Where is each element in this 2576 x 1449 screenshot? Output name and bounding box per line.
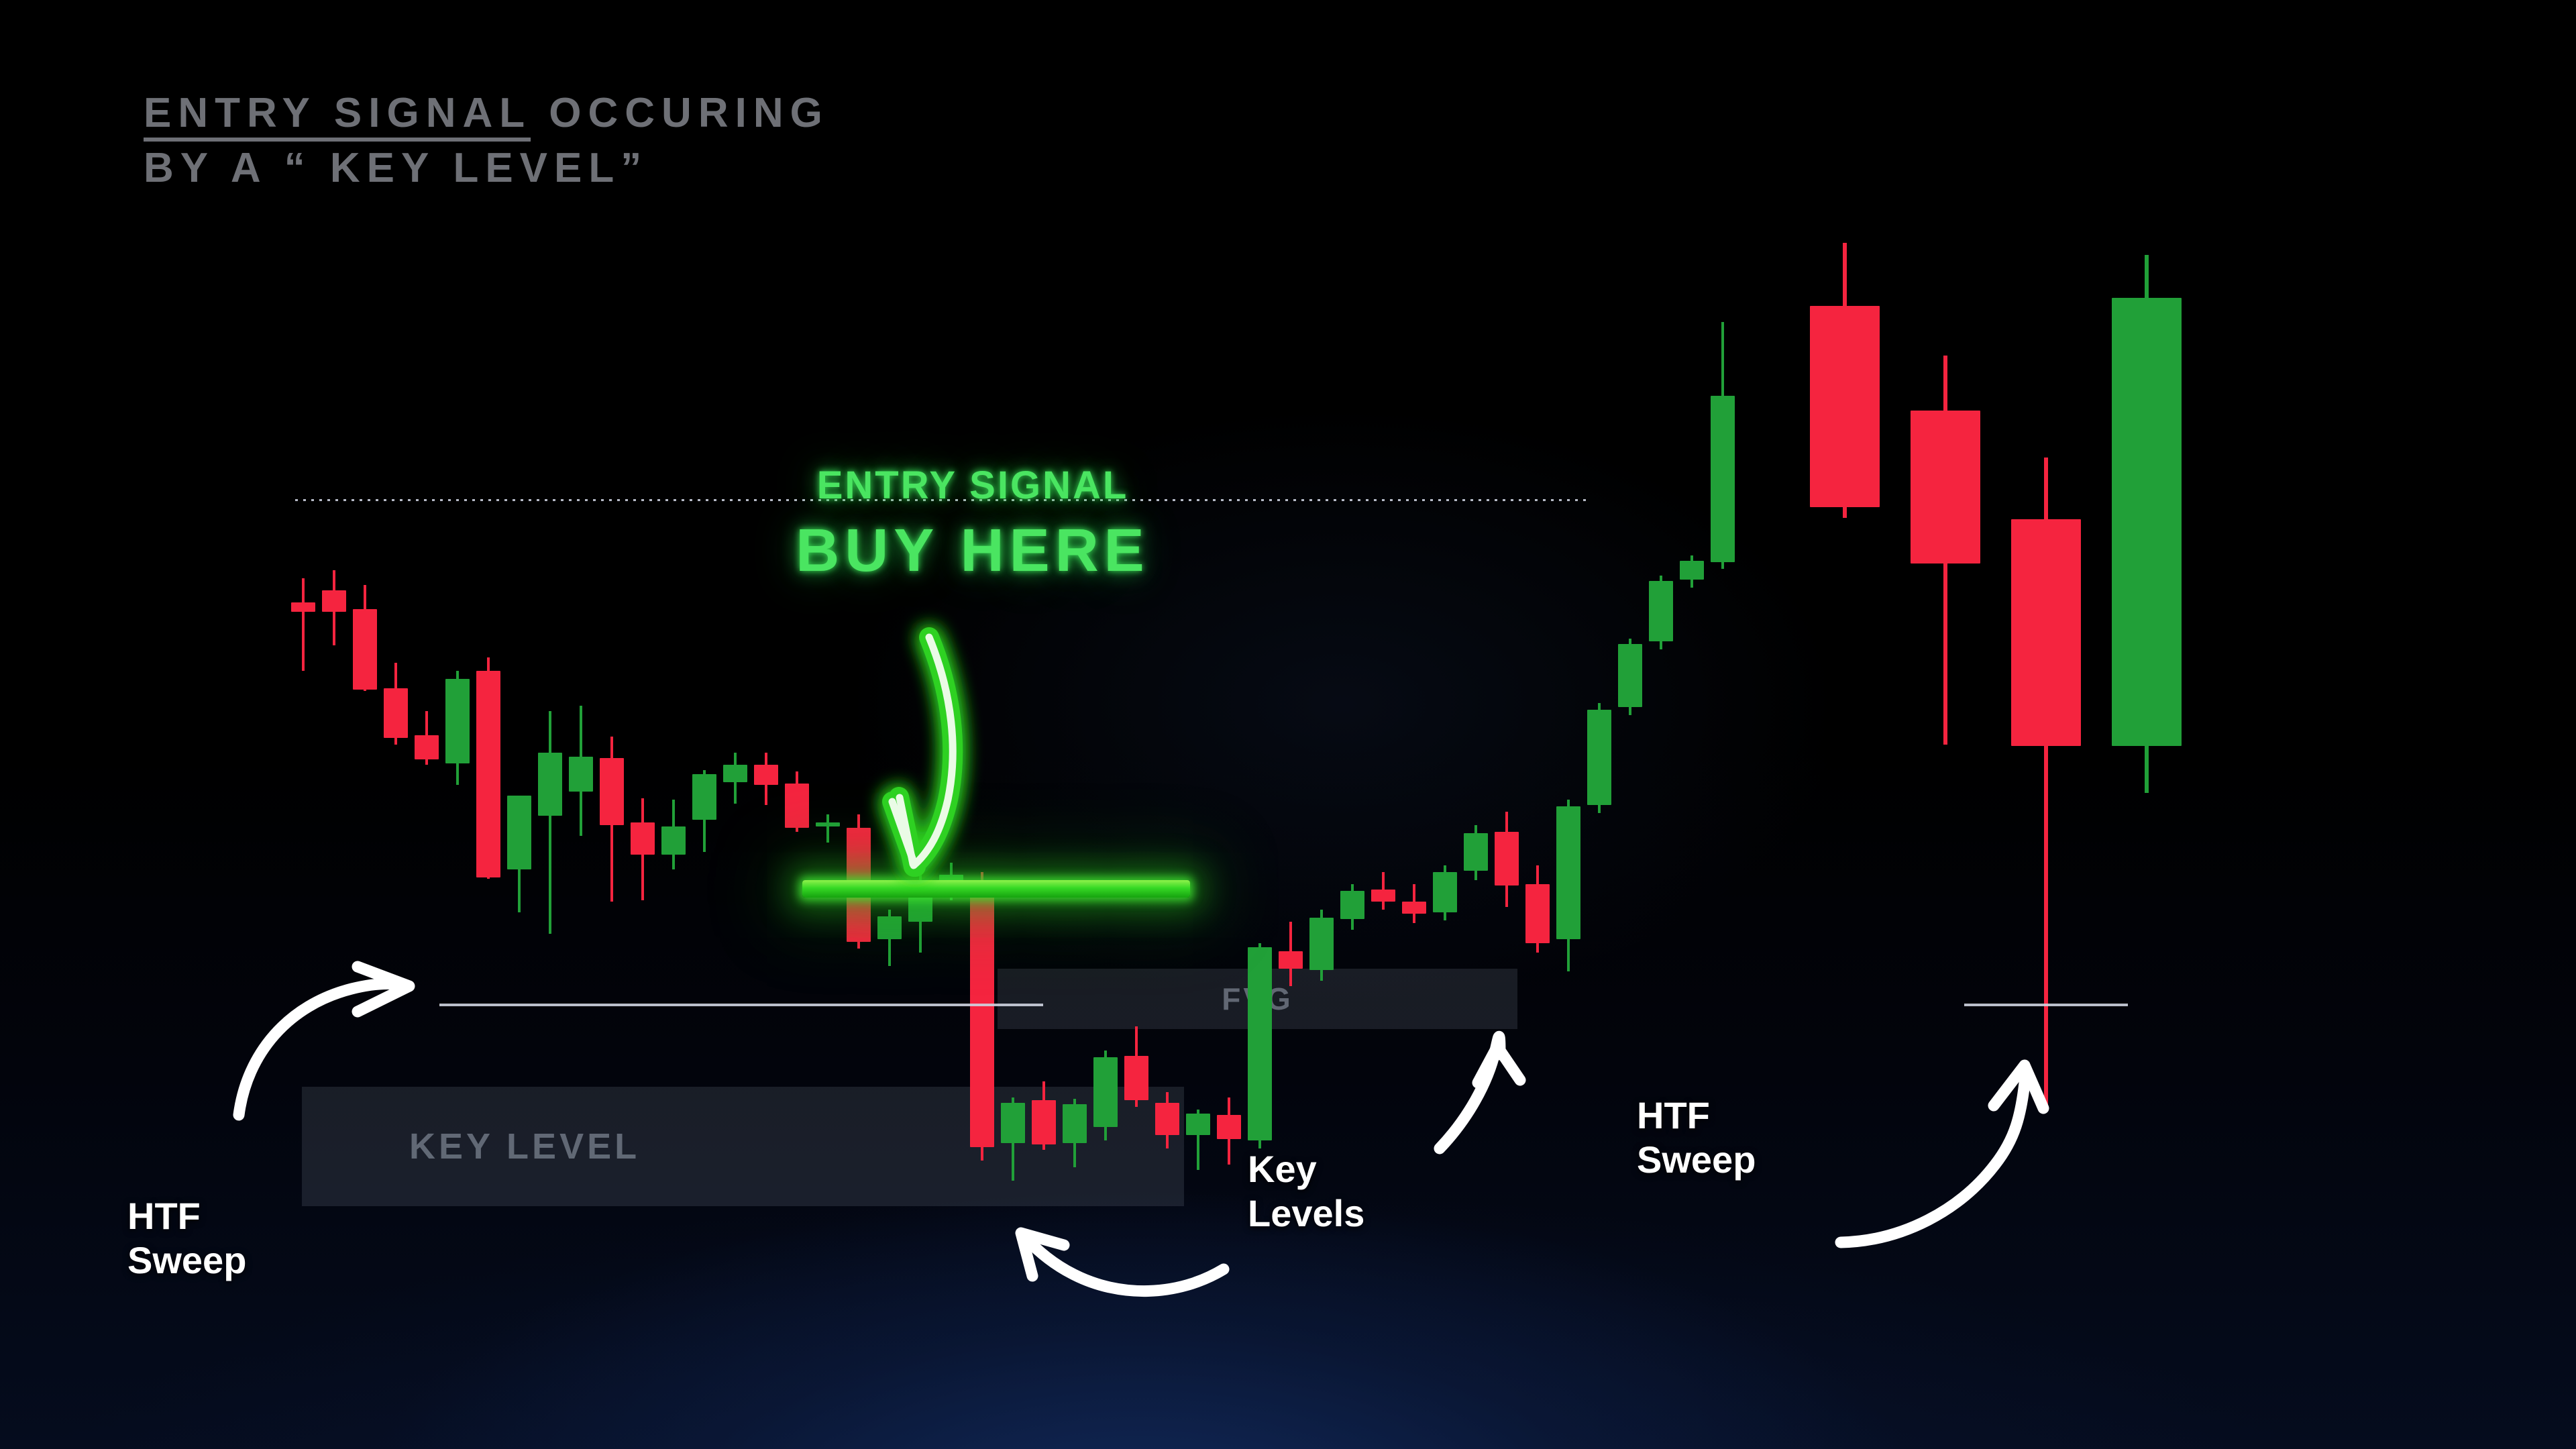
candle-body	[877, 916, 902, 939]
title-line-2: BY A “ KEY LEVEL”	[144, 141, 829, 196]
candlestick-bullish	[1340, 884, 1364, 930]
candlestick-bullish	[1093, 1051, 1118, 1140]
candle-body	[631, 822, 655, 855]
title-rest-part: OCCURING	[531, 90, 829, 136]
candle-body	[322, 590, 346, 612]
candle-body	[445, 679, 470, 763]
candle-body	[1093, 1057, 1118, 1127]
candlestick-bearish	[1279, 922, 1303, 986]
candlestick-bearish	[1525, 865, 1550, 953]
key-level-line-left	[439, 1004, 1043, 1006]
candlestick-bearish	[476, 657, 500, 879]
entry-signal-label: ENTRY SIGNAL	[671, 463, 1275, 508]
candlestick-bearish	[1124, 1026, 1148, 1107]
candle-body	[816, 822, 840, 826]
candlestick-bearish	[1402, 884, 1426, 923]
candle-body	[1063, 1104, 1087, 1143]
candlestick-bullish	[1309, 910, 1334, 981]
candlestick-bearish	[1217, 1097, 1241, 1165]
candlestick-bullish	[1001, 1097, 1025, 1181]
candlestick-bullish	[1587, 703, 1611, 813]
candle-body	[1402, 902, 1426, 914]
candlestick-bearish	[754, 753, 778, 805]
candlestick-bearish	[384, 663, 408, 745]
candlestick-bullish	[1618, 639, 1642, 715]
candlestick-bullish	[816, 814, 840, 843]
key-levels-label: Key Levels	[1248, 1147, 1364, 1236]
candle-body	[1556, 806, 1580, 939]
candle-body	[785, 784, 809, 828]
chart-canvas: ENTRY SIGNAL OCCURING BY A “ KEY LEVEL” …	[0, 0, 2576, 1449]
candle-body	[2112, 298, 2182, 746]
candlestick-bullish	[569, 706, 593, 836]
candlestick-bearish	[970, 872, 994, 1161]
htf-sweep-left-label: HTF Sweep	[127, 1194, 246, 1283]
candlestick-bullish	[1711, 322, 1735, 569]
key-level-box-arrow-icon	[1021, 1233, 1224, 1291]
candle-body	[538, 753, 562, 816]
candle-body	[1495, 832, 1519, 885]
candlestick-bullish	[661, 800, 686, 869]
candle-body	[1217, 1115, 1241, 1139]
candle-body	[970, 887, 994, 1147]
candle-body	[1911, 411, 1980, 563]
htf-sweep-right-label: HTF Sweep	[1637, 1093, 1756, 1182]
candle-body	[1464, 833, 1488, 871]
candlestick-bullish	[1556, 800, 1580, 971]
candlestick-bullish	[445, 671, 470, 785]
candle-body	[384, 688, 408, 738]
entry-signal-line	[802, 880, 1190, 898]
candle-body	[1340, 891, 1364, 919]
candlestick-bearish	[1495, 812, 1519, 907]
candlestick-bullish	[1248, 943, 1272, 1148]
candlestick-bearish	[1911, 356, 1980, 745]
key-level-line-right	[1964, 1004, 2128, 1006]
candle-body	[476, 671, 500, 877]
candle-wick	[302, 578, 305, 671]
candle-body	[723, 765, 747, 782]
candle-body	[2011, 519, 2081, 746]
candlestick-bullish	[1649, 576, 1673, 649]
candle-body	[661, 826, 686, 855]
candle-body	[1032, 1100, 1056, 1144]
candle-body	[1711, 396, 1735, 562]
candlestick-bearish	[1155, 1092, 1179, 1148]
candle-body	[1155, 1103, 1179, 1135]
candlestick-bullish	[538, 711, 562, 934]
candlestick-bearish	[785, 771, 809, 832]
candlestick-bearish	[1810, 243, 1880, 518]
candlestick-bullish	[877, 910, 902, 966]
title-line-1: ENTRY SIGNAL OCCURING	[144, 86, 829, 141]
candlestick-bullish	[692, 770, 716, 852]
title-underlined-part: ENTRY SIGNAL	[144, 90, 531, 136]
candle-body	[1618, 644, 1642, 707]
candlestick-bearish	[415, 711, 439, 765]
candlestick-bearish	[322, 570, 346, 645]
candlestick-bearish	[600, 737, 624, 902]
candle-body	[1433, 872, 1457, 912]
candlestick-bullish	[2112, 255, 2182, 793]
candle-body	[1279, 951, 1303, 969]
buy-here-neon-arrow-icon	[892, 637, 953, 867]
candlestick-bullish	[1680, 555, 1704, 588]
key-level-zone-label: KEY LEVEL	[409, 1126, 640, 1167]
candle-body	[1124, 1056, 1148, 1100]
candlestick-bearish	[2011, 458, 2081, 1107]
candle-body	[1186, 1114, 1210, 1135]
candlestick-bearish	[353, 585, 377, 691]
candlestick-bullish	[1063, 1099, 1087, 1167]
candle-body	[754, 765, 778, 785]
candle-body	[692, 774, 716, 820]
candle-body	[1001, 1103, 1025, 1143]
candle-body	[1525, 884, 1550, 943]
candlestick-bullish	[507, 847, 531, 912]
candle-body	[569, 757, 593, 792]
candlestick-bearish	[631, 798, 655, 900]
candle-body	[1680, 561, 1704, 580]
candle-body	[1649, 581, 1673, 641]
candlestick-bearish	[1032, 1081, 1056, 1150]
buy-here-label: BUY HERE	[644, 517, 1301, 586]
candle-wick	[826, 814, 829, 843]
candle-body	[1248, 947, 1272, 1140]
candle-body	[1371, 890, 1395, 902]
candle-body	[507, 796, 531, 869]
candlestick-bearish	[1371, 872, 1395, 910]
candle-body	[1810, 306, 1880, 507]
page-title: ENTRY SIGNAL OCCURING BY A “ KEY LEVEL”	[144, 86, 829, 196]
candle-body	[415, 735, 439, 759]
candle-body	[353, 609, 377, 690]
candle-body	[291, 602, 315, 612]
candle-body	[1587, 710, 1611, 805]
candle-wick	[549, 711, 551, 934]
candlestick-bullish	[1186, 1110, 1210, 1170]
candlestick-bullish	[1433, 865, 1457, 920]
candlestick-bullish	[723, 753, 747, 804]
candle-body	[600, 758, 624, 825]
candle-body	[1309, 918, 1334, 970]
candlestick-bearish	[291, 578, 315, 671]
candlestick-bullish	[1464, 825, 1488, 880]
key-levels-arrow-icon	[1440, 1036, 1520, 1148]
